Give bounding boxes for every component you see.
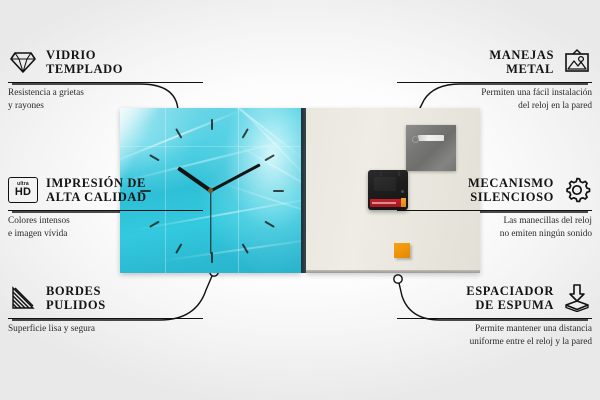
clock-tick xyxy=(273,190,284,192)
feature-divider xyxy=(397,318,592,319)
clock-tick xyxy=(175,243,182,254)
polished-edges-icon xyxy=(8,283,38,313)
infographic-canvas: VIDRIO TEMPLADO Resistencia a grietas y … xyxy=(0,0,600,400)
feature-divider xyxy=(8,82,203,83)
ultra-hd-icon-large-text: HD xyxy=(15,187,31,198)
feature-subtitle: Permiten una fácil instalación del reloj… xyxy=(397,87,592,112)
feature-subtitle: Permite mantener una distancia uniforme … xyxy=(397,323,592,348)
clock-tick xyxy=(264,154,275,161)
glass-pane-seam xyxy=(120,146,301,147)
hanger-keyhole-slot xyxy=(418,135,444,141)
feature-espaciador-espuma: ESPACIADOR DE ESPUMA Permite mantener un… xyxy=(397,280,592,348)
picture-hanger-icon xyxy=(562,47,592,77)
feature-title: VIDRIO TEMPLADO xyxy=(46,48,203,76)
feature-title: MECANISMO SILENCIOSO xyxy=(397,176,554,204)
feature-title: MANEJAS METAL xyxy=(397,48,554,76)
foam-spacer-square xyxy=(394,243,410,258)
clock-tick xyxy=(241,128,248,139)
clock-tick xyxy=(149,154,160,161)
feature-vidrio-templado: VIDRIO TEMPLADO Resistencia a grietas y … xyxy=(8,44,203,112)
clock-second-hand xyxy=(210,191,211,254)
diamond-icon xyxy=(8,47,38,77)
ultra-hd-icon: ultra HD xyxy=(8,175,38,205)
clock-tick xyxy=(264,220,275,227)
feature-divider xyxy=(8,318,203,319)
feature-subtitle: Resistencia a grietas y rayones xyxy=(8,87,203,112)
foam-spacer-icon xyxy=(562,283,592,313)
feature-bordes-pulidos: BORDES PULIDOS Superficie lisa y segura xyxy=(8,280,203,336)
feature-mecanismo-silencioso: MECANISMO SILENCIOSO Las manecillas del … xyxy=(397,172,592,240)
feature-subtitle: Colores intensos e imagen vívida xyxy=(8,215,203,240)
glass-pane-seam xyxy=(238,108,239,273)
mechanism-body-panel xyxy=(374,177,396,191)
feature-title: BORDES PULIDOS xyxy=(46,284,203,312)
feature-divider xyxy=(8,210,203,211)
feature-title: IMPRESIÓN DE ALTA CALIDAD xyxy=(46,176,203,204)
clock-tick xyxy=(211,119,213,130)
feature-impresion-alta-calidad: ultra HD IMPRESIÓN DE ALTA CALIDAD Color… xyxy=(8,172,203,240)
feature-divider xyxy=(397,82,592,83)
feature-subtitle: Superficie lisa y segura xyxy=(8,323,203,336)
metal-hanger-plate xyxy=(406,125,456,171)
feature-manejas-metal: MANEJAS METAL Permiten una fácil instala… xyxy=(397,44,592,112)
clock-center-cap xyxy=(208,188,213,193)
feature-divider xyxy=(397,210,592,211)
feather-streak xyxy=(120,108,245,166)
feature-subtitle: Las manecillas del reloj no emiten ningú… xyxy=(397,215,592,240)
back-panel-bottom-edge xyxy=(306,270,480,273)
feature-title: ESPACIADOR DE ESPUMA xyxy=(397,284,554,312)
gear-icon xyxy=(562,175,592,205)
